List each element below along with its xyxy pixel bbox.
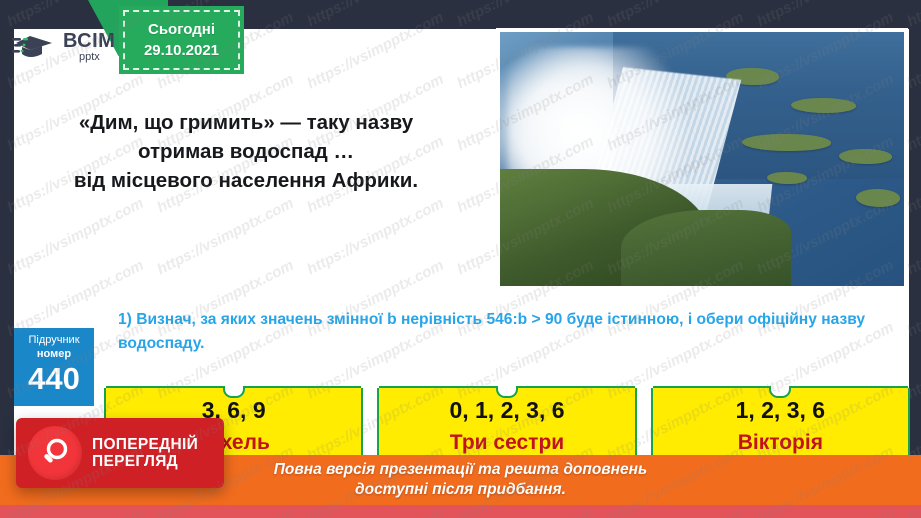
logo-sub-text: pptx [79, 52, 115, 63]
preview-line-1: ПОПЕРЕДНІЙ [92, 436, 198, 453]
answer-values: 1, 2, 3, 6 [653, 398, 908, 423]
badge-number: 440 [14, 363, 94, 396]
answer-name: Три сестри [379, 431, 634, 454]
date-badge-label: Сьогодні [148, 21, 215, 38]
graduation-cap-icon [12, 30, 58, 64]
task-text: 1) Визнач, за яких значень змінної b нер… [118, 308, 878, 356]
footer-strip [0, 505, 921, 518]
badge-line-1: Підручник [14, 334, 94, 348]
magnifier-icon [28, 426, 82, 480]
date-badge: Сьогодні 29.10.2021 [119, 6, 244, 74]
page-title: «Дим, що гримить» — таку назву отримав в… [12, 108, 480, 195]
waterfall-photo [496, 28, 908, 290]
logo-brand-text: ВСІМ [63, 31, 115, 51]
banner-line-1: Повна версія презентації та решта доповн… [274, 460, 647, 480]
date-badge-date: 29.10.2021 [144, 42, 219, 59]
banner-line-2: доступні після придбання. [355, 480, 566, 500]
answer-values: 0, 1, 2, 3, 6 [379, 398, 634, 423]
textbook-number-badge: Підручник номер 440 [14, 328, 94, 406]
brand-logo: ВСІМ pptx [12, 30, 115, 64]
badge-line-2: номер [14, 348, 94, 362]
heading-line-3: від місцевого населення Африки. [12, 166, 480, 195]
preview-line-2: ПЕРЕГЛЯД [92, 453, 198, 470]
presentation-slide: Сьогодні 29.10.2021 ВСІМ pptx «Дим, що г… [0, 0, 921, 518]
preview-overlay-badge[interactable]: ПОПЕРЕДНІЙ ПЕРЕГЛЯД [16, 418, 224, 488]
answer-name: Вікторія [653, 431, 908, 454]
heading-line-1: «Дим, що гримить» — таку назву [12, 108, 480, 137]
heading-line-2: отримав водоспад … [12, 137, 480, 166]
